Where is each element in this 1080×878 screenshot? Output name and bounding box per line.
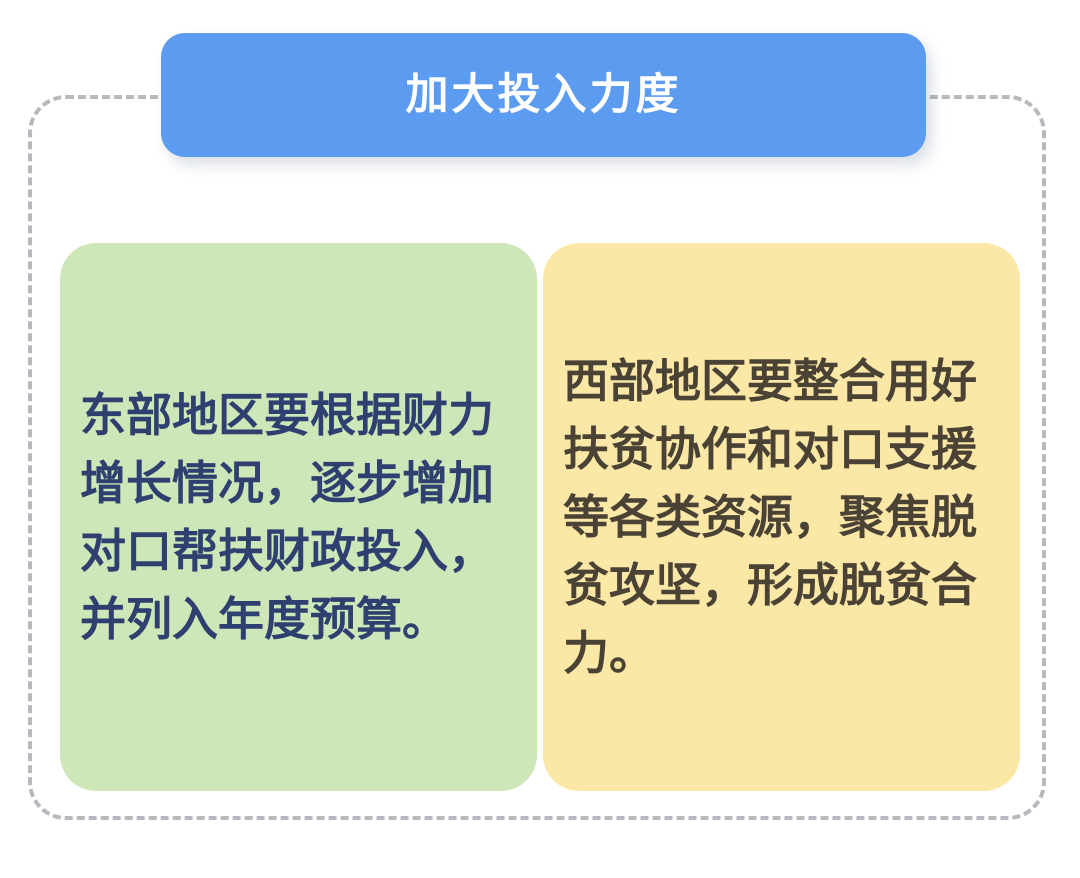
card-east-region-text: 东部地区要根据财力增长情况，逐步增加对口帮扶财政投入，并列入年度预算。 xyxy=(80,381,515,653)
card-east-region: 东部地区要根据财力增长情况，逐步增加对口帮扶财政投入，并列入年度预算。 xyxy=(60,243,537,791)
section-header-banner: 加大投入力度 xyxy=(161,33,926,157)
content-cards-row: 东部地区要根据财力增长情况，逐步增加对口帮扶财政投入，并列入年度预算。 西部地区… xyxy=(60,243,1020,791)
card-west-region: 西部地区要整合用好扶贫协作和对口支援等各类资源，聚焦脱贫攻坚，形成脱贫合力。 xyxy=(543,243,1020,791)
infographic-canvas: 加大投入力度 东部地区要根据财力增长情况，逐步增加对口帮扶财政投入，并列入年度预… xyxy=(0,0,1080,878)
card-west-region-text: 西部地区要整合用好扶贫协作和对口支援等各类资源，聚焦脱贫攻坚，形成脱贫合力。 xyxy=(563,347,998,687)
section-header-title: 加大投入力度 xyxy=(406,74,682,117)
